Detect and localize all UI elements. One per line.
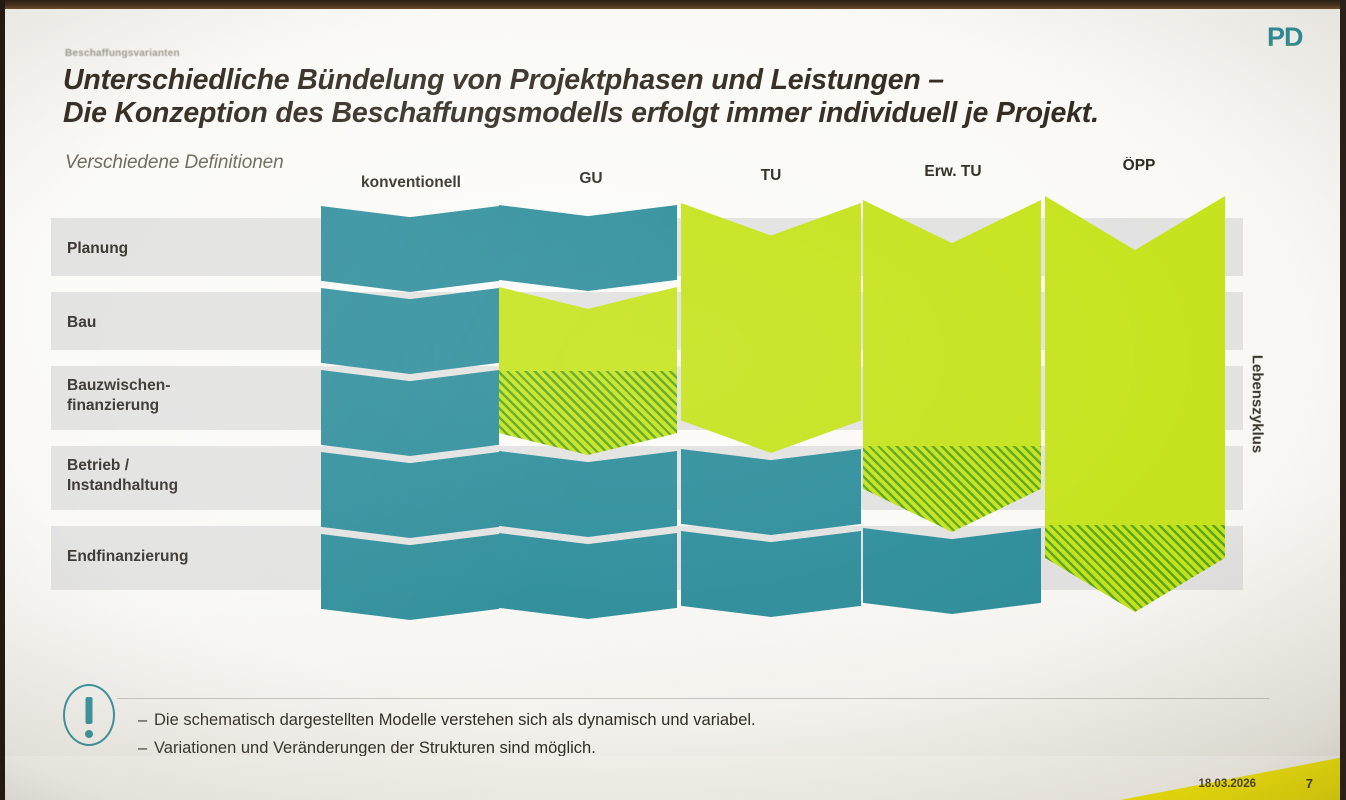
row-label-betrieb-l1: Betrieb / <box>67 457 129 474</box>
page-title: Unterschiedliche Bündelung von Projektph… <box>63 64 1183 130</box>
row-label-bau: Bau <box>67 313 96 333</box>
exclamation-dot <box>85 730 93 738</box>
row-label-betrieb-instandhaltung: Betrieb / Instandhaltung <box>67 456 178 496</box>
cell-tu-betrieb[interactable] <box>681 449 861 535</box>
cell-gu-bau-bauzwischen-bundle[interactable] <box>499 287 677 455</box>
oepp-bundle-hatched <box>1045 525 1225 612</box>
cell-erwtu-planung-betrieb-bundle[interactable] <box>863 200 1041 532</box>
footnote-dash-1: – <box>138 706 154 734</box>
row-label-endfinanzierung: Endfinanzierung <box>67 547 188 567</box>
pd-logo: PD <box>1266 18 1318 54</box>
row-label-planung: Planung <box>67 239 128 259</box>
erwtu-bundle-hatched <box>863 446 1041 532</box>
footer-page-number: 7 <box>1306 776 1313 791</box>
cell-gu-betrieb[interactable] <box>499 451 677 537</box>
cell-konventionell-endfinanzierung[interactable] <box>321 534 499 620</box>
column-header-gu: GU <box>579 170 602 188</box>
screen-bezel-right <box>1340 0 1346 800</box>
title-line-1: Unterschiedliche Bündelung von Projektph… <box>63 64 944 96</box>
cell-gu-planung[interactable] <box>499 205 677 291</box>
column-header-konventionell: konventionell <box>361 174 461 192</box>
column-header-tu: TU <box>761 167 782 185</box>
title-line-2: Die Konzeption des Beschaffungsmodells e… <box>63 97 1183 130</box>
exclamation-bar <box>86 697 93 724</box>
cell-tu-endfinanzierung[interactable] <box>681 531 861 617</box>
cell-tu-planung-bauzwischen-bundle[interactable] <box>681 203 861 453</box>
cell-konventionell-planung[interactable] <box>321 206 499 292</box>
cell-erwtu-endfinanzierung[interactable] <box>863 528 1041 614</box>
row-label-bauzwischen-l1: Bauzwischen- <box>67 377 170 394</box>
lifecycle-axis-label: Lebenszyklus <box>1248 355 1265 453</box>
screen-bezel-left <box>0 0 5 800</box>
projected-slide-photo: Beschaffungsvarianten Unterschiedliche B… <box>0 0 1346 800</box>
cell-konventionell-bauzwischenfinanzierung[interactable] <box>321 370 499 456</box>
pd-logo-icon: PD <box>1266 18 1318 54</box>
footnote-text-1: Die schematisch dargestellten Modelle ve… <box>154 706 756 734</box>
cell-konventionell-bau[interactable] <box>321 288 499 374</box>
svg-text:PD: PD <box>1267 22 1303 52</box>
procurement-matrix: Planung Bau Bauzwischen- finanzierung Be… <box>45 194 1270 632</box>
footer-band <box>5 756 1340 800</box>
gu-bundle-hatched <box>499 371 677 455</box>
slide-subtitle: Verschiedene Definitionen <box>65 152 284 174</box>
exclamation-circle-icon <box>63 684 115 746</box>
column-header-oepp: ÖPP <box>1123 157 1156 175</box>
cell-konventionell-betrieb[interactable] <box>321 452 499 538</box>
cell-oepp-full-lifecycle-bundle[interactable] <box>1045 196 1225 612</box>
slide-eyebrow: Beschaffungsvarianten <box>65 48 180 59</box>
cell-gu-endfinanzierung[interactable] <box>499 533 677 619</box>
row-label-bauzwischenfinanzierung: Bauzwischen- finanzierung <box>67 376 170 416</box>
footnote-item-1: – Die schematisch dargestellten Modelle … <box>138 706 1138 734</box>
footnote-list: – Die schematisch dargestellten Modelle … <box>138 706 1138 762</box>
row-label-betrieb-l2: Instandhaltung <box>67 477 178 494</box>
screen-bezel-top <box>0 0 1346 9</box>
column-header-erw-tu: Erw. TU <box>924 163 981 181</box>
row-label-bauzwischen-l2: finanzierung <box>67 397 159 414</box>
slide-canvas: Beschaffungsvarianten Unterschiedliche B… <box>5 8 1340 800</box>
footnote-divider <box>117 698 1269 699</box>
footer-date: 18.03.2026 <box>1198 778 1256 790</box>
